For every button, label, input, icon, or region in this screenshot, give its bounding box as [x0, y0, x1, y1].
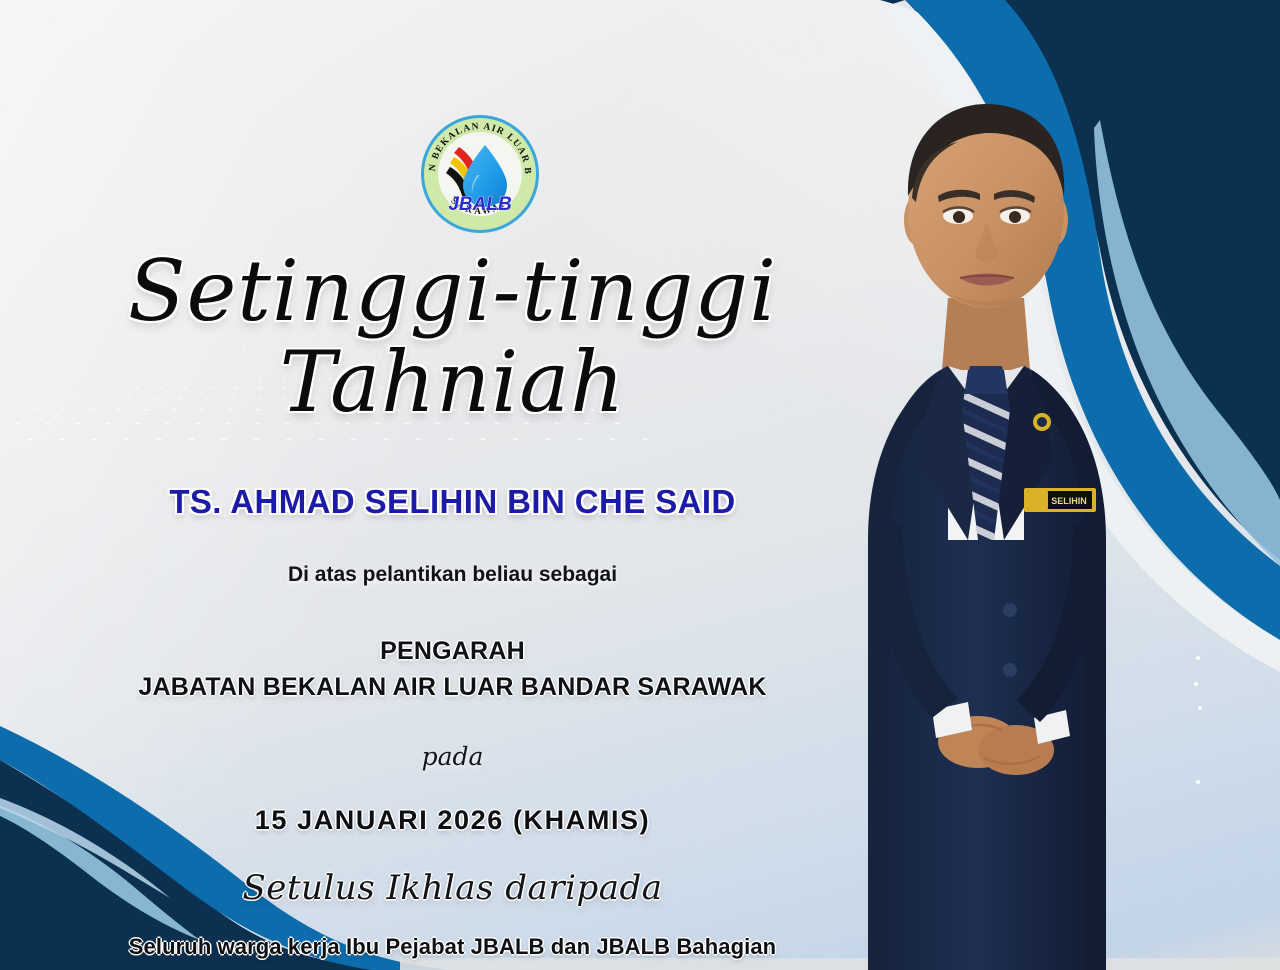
closing-script: Setulus Ikhlas daripada: [0, 868, 905, 908]
congratulations-poster: SELIHIN: [0, 0, 1280, 970]
headline-script: Setinggi-tinggi Tahniah: [0, 246, 905, 427]
jbalb-logo: JABATAN BEKALAN AIR LUAR BANDAR SARAWAK …: [419, 113, 541, 235]
svg-text:SELIHIN: SELIHIN: [1051, 496, 1087, 506]
svg-text:JBALB: JBALB: [448, 194, 512, 215]
speck-dot: [1194, 682, 1198, 686]
suit: [876, 366, 1098, 970]
event-date: 15 JANUARI 2026 (KHAMIS): [0, 805, 905, 836]
pada-label: pada: [0, 742, 905, 771]
honoree-name: TS. AHMAD SELIHIN BIN CHE SAID: [0, 483, 905, 521]
wave-top-dark: [880, 0, 1280, 560]
speck-dot: [1196, 780, 1200, 784]
wave-top-accent: [1094, 120, 1280, 566]
wave-top-medium: [905, 0, 1280, 640]
name-badge: SELIHIN: [1024, 488, 1096, 512]
speck-dot: [1196, 656, 1200, 660]
position-title: PENGARAH: [380, 637, 525, 665]
speck-dot: [1198, 706, 1202, 710]
sender-line: Seluruh warga kerja Ibu Pejabat JBALB da…: [0, 934, 905, 960]
position-block: PENGARAH JABATAN BEKALAN AIR LUAR BANDAR…: [0, 634, 905, 705]
wave-top-pale: [880, 0, 1280, 672]
intro-line: Di atas pelantikan beliau sebagai: [0, 563, 905, 587]
position-department: JABATAN BEKALAN AIR LUAR BANDAR SARAWAK: [0, 670, 905, 706]
poster-text-block: Setinggi-tinggi Tahniah TS. AHMAD SELIHI…: [0, 246, 905, 960]
